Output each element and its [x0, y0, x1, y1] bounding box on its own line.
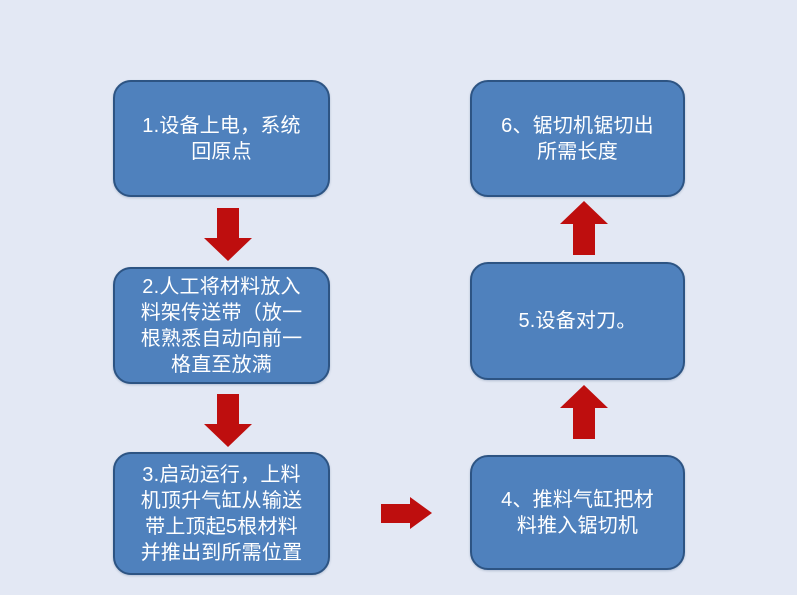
- arrow-right-step3-to-step4: [381, 497, 433, 530]
- flowchart-node-step-5-label: 5.设备对刀。: [484, 308, 671, 334]
- arrow-head: [204, 238, 252, 261]
- arrow-up-step4-to-step5: [560, 385, 608, 439]
- arrow-shaft: [381, 504, 412, 523]
- arrow-shaft: [573, 407, 595, 439]
- flowchart-node-step-1-label: 1.设备上电，系统 回原点: [127, 113, 316, 165]
- arrow-down-step1-to-step2: [204, 208, 252, 262]
- flowchart-node-step-4-label: 4、推料气缸把材 料推入锯切机: [484, 487, 671, 539]
- arrow-shaft: [573, 223, 595, 255]
- arrow-head: [560, 201, 608, 224]
- flowchart-node-step-4[interactable]: 4、推料气缸把材 料推入锯切机: [470, 455, 685, 570]
- arrow-down-step2-to-step3: [204, 394, 252, 448]
- flowchart-node-step-2-label: 2.人工将材料放入 料架传送带（放一 根熟悉自动向前一 格直至放满: [127, 274, 316, 378]
- arrow-head: [410, 497, 432, 529]
- flowchart-canvas: 1.设备上电，系统 回原点 2.人工将材料放入 料架传送带（放一 根熟悉自动向前…: [0, 0, 797, 595]
- flowchart-node-step-3-label: 3.启动运行，上料 机顶升气缸从输送 带上顶起5根材料 并推出到所需位置: [127, 462, 316, 566]
- arrow-head: [560, 385, 608, 408]
- flowchart-node-step-5[interactable]: 5.设备对刀。: [470, 262, 685, 380]
- arrow-head: [204, 424, 252, 447]
- arrow-up-step5-to-step6: [560, 201, 608, 255]
- arrow-shaft: [217, 208, 239, 240]
- flowchart-node-step-6-label: 6、锯切机锯切出 所需长度: [484, 113, 671, 165]
- flowchart-node-step-6[interactable]: 6、锯切机锯切出 所需长度: [470, 80, 685, 197]
- arrow-shaft: [217, 394, 239, 426]
- flowchart-node-step-2[interactable]: 2.人工将材料放入 料架传送带（放一 根熟悉自动向前一 格直至放满: [113, 267, 330, 384]
- flowchart-node-step-3[interactable]: 3.启动运行，上料 机顶升气缸从输送 带上顶起5根材料 并推出到所需位置: [113, 452, 330, 575]
- flowchart-node-step-1[interactable]: 1.设备上电，系统 回原点: [113, 80, 330, 197]
